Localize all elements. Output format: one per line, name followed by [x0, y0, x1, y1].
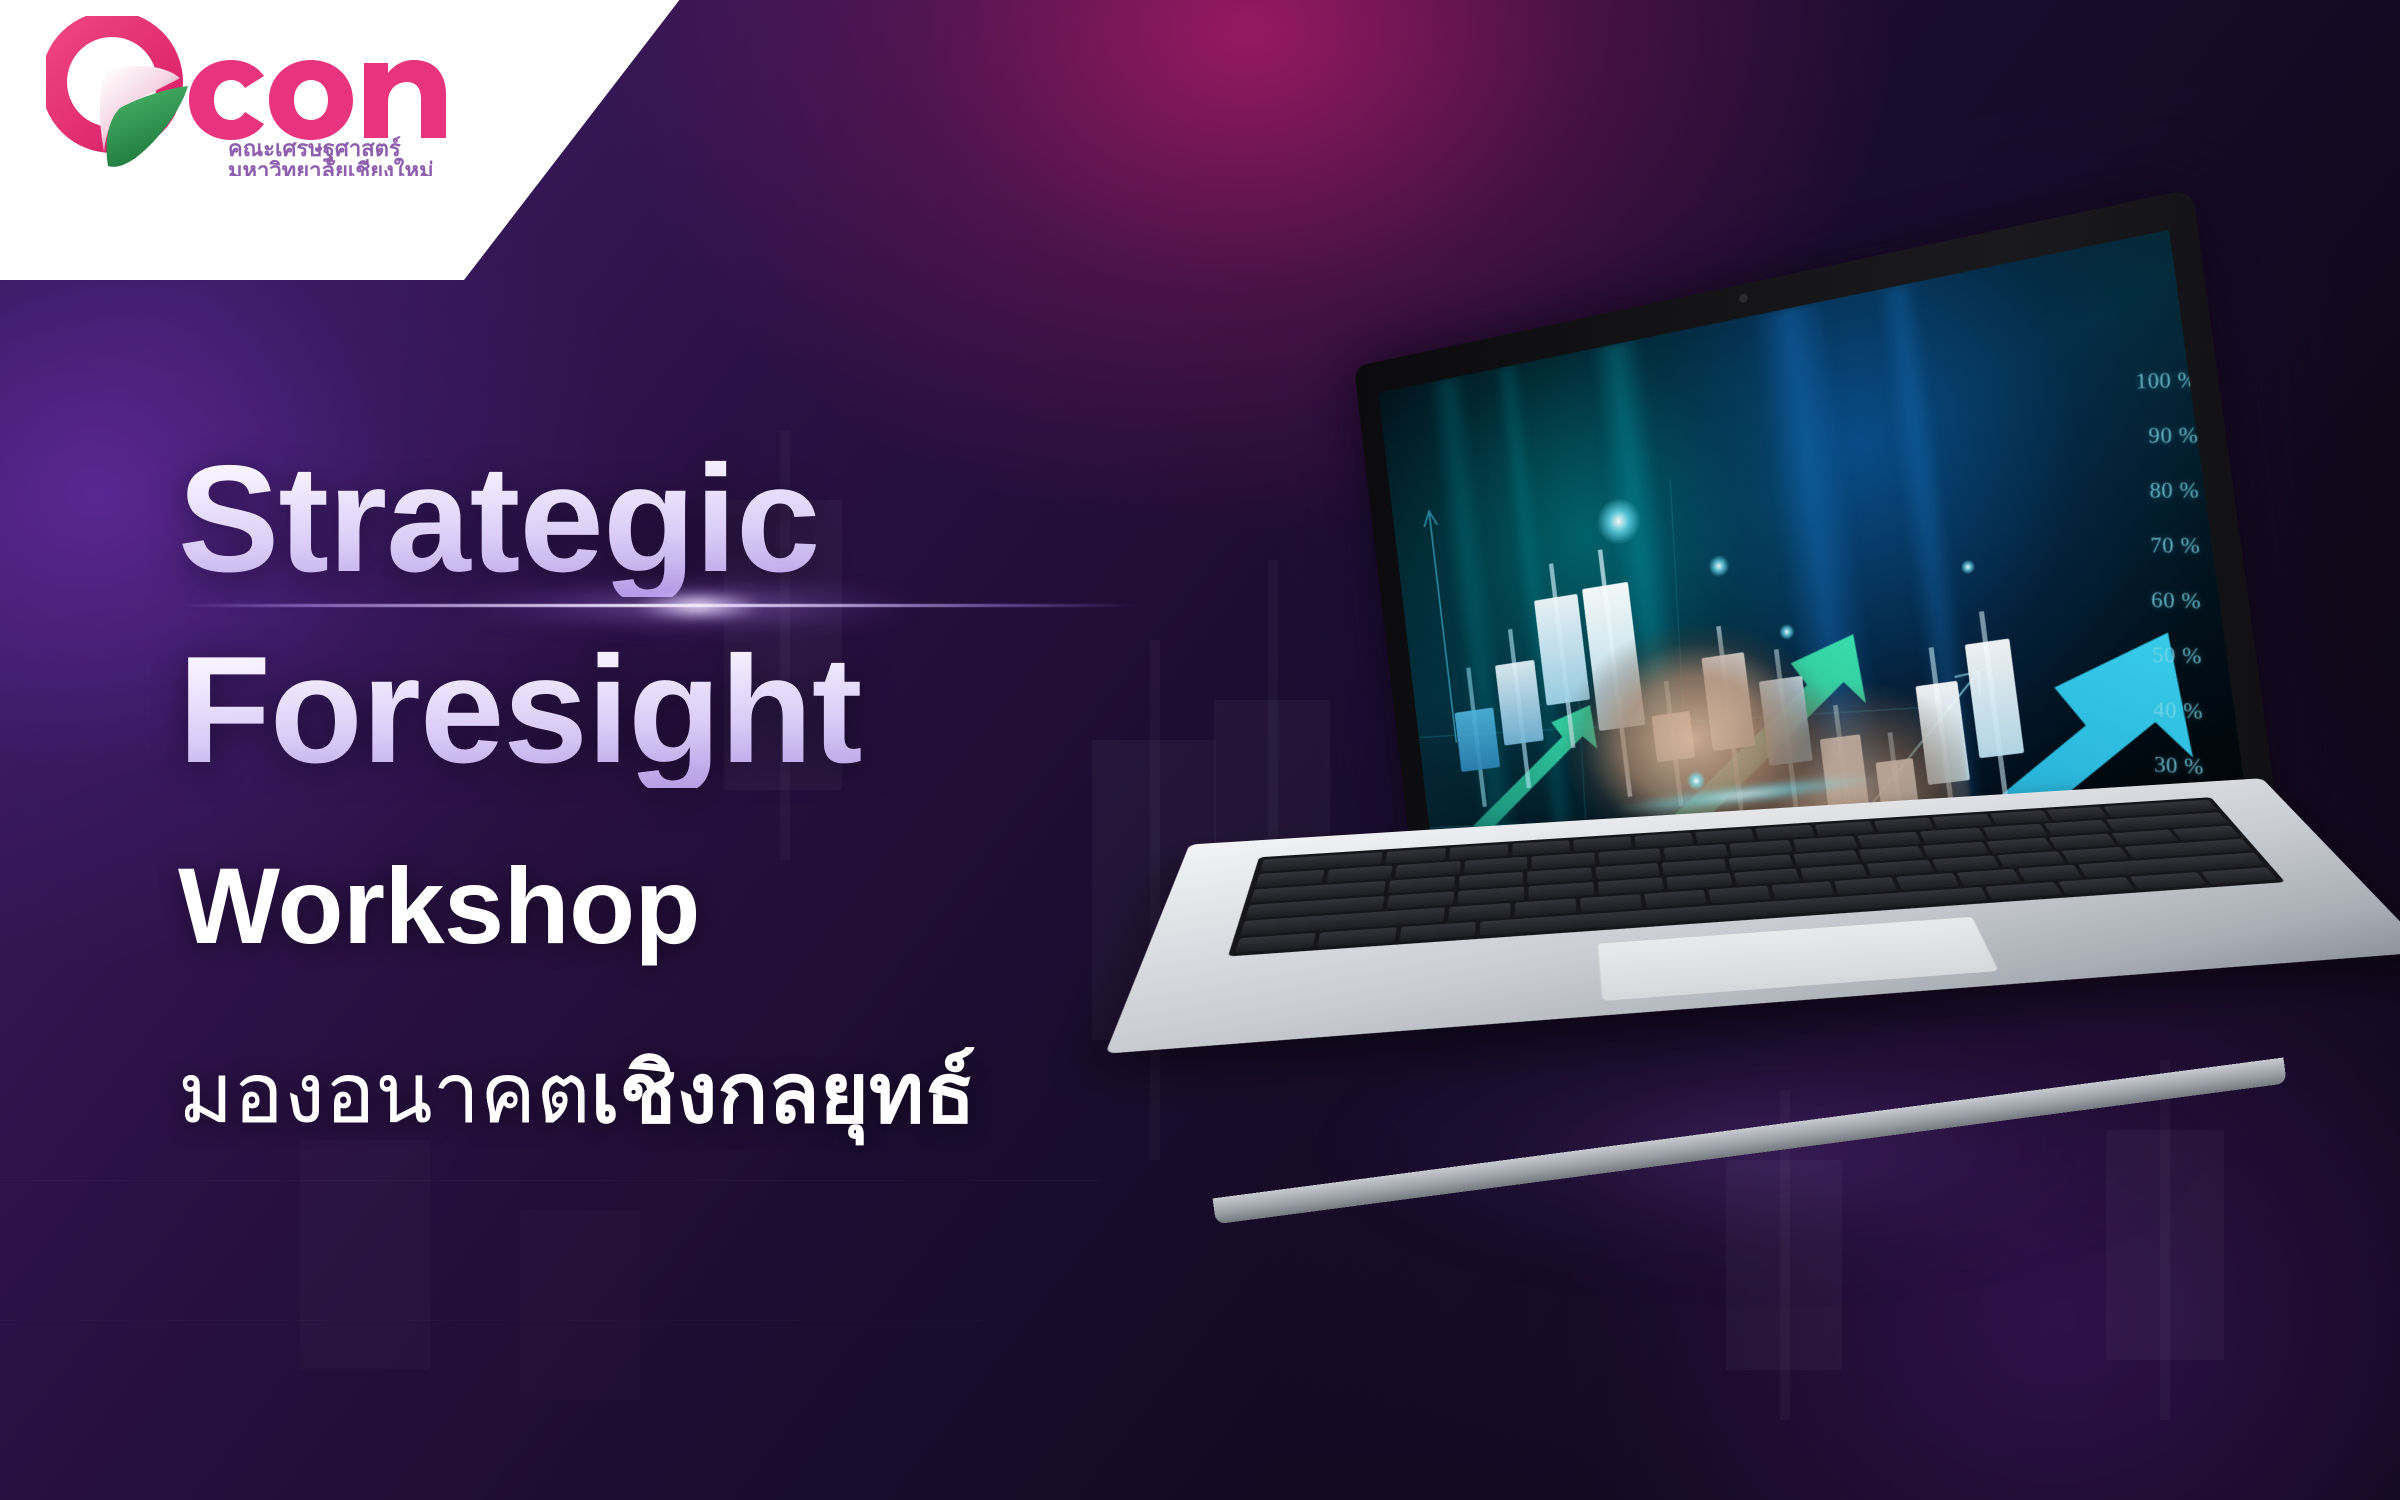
axis-tick-label: 60 %	[1999, 587, 2201, 613]
laptop-trackpad	[1597, 916, 1999, 1001]
econ-e-leaf-mark	[54, 24, 188, 167]
axis-tick-label: 90 %	[1997, 424, 2199, 448]
thai-subtitle-bold: เชิงกลยุทธ์	[591, 1046, 976, 1140]
econ-wordmark	[189, 60, 446, 140]
lens-flare-streak	[178, 601, 1178, 611]
axis-tick-label: 70 %	[1998, 533, 2200, 557]
thin-vertical-arrow	[1422, 510, 1463, 743]
laptop-device: 100 % 90 % 80 % 70 % 60 % 50 % 40 % 30 %…	[1090, 270, 2390, 1250]
econ-logo: คณะเศรษฐศาสตร์ มหาวิทยาลัยเชียงใหม่	[46, 16, 466, 176]
thai-subtitle-light: มองอนาคต	[178, 1046, 591, 1140]
flare-hotspot	[618, 587, 778, 625]
logo-university-line: มหาวิทยาลัยเชียงใหม่	[228, 157, 434, 176]
axis-tick-label: 50 %	[2000, 640, 2202, 668]
axis-tick-label: 80 %	[1998, 480, 2200, 502]
promotional-banner: คณะเศรษฐศาสตร์ มหาวิทยาลัยเชียงใหม่ Stra…	[0, 0, 2400, 1500]
econ-logo-svg: คณะเศรษฐศาสตร์ มหาวิทยาลัยเชียงใหม่	[46, 16, 466, 176]
logo-panel: คณะเศรษฐศาสตร์ มหาวิทยาลัยเชียงใหม่	[0, 0, 724, 284]
axis-tick-label: 100 %	[1996, 369, 2198, 395]
axis-tick-label: 40 %	[2001, 693, 2203, 722]
axis-tick-label: 30 %	[2002, 747, 2204, 778]
